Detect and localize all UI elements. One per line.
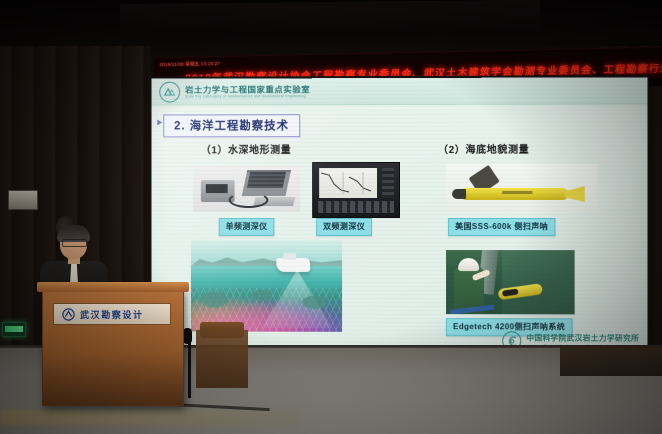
title-bullet-arrow-icon [157, 119, 162, 125]
caption-dual-frequency: 双频测深仪 [316, 218, 372, 236]
sonar-deployment-field-photo [446, 250, 575, 314]
podium-sign-text: 武汉勘察设计 [80, 308, 144, 321]
dual-frequency-recorder-photo [312, 162, 400, 218]
slide-title: 2. 海洋工程勘察技术 [163, 114, 300, 137]
microphone-head-icon [183, 328, 192, 344]
single-beam-echo-sounder-photo [193, 166, 300, 212]
screenshot-root: 2019/11/08 星期五 13:15:27 2019年武汉勘察设计协会工程勘… [0, 0, 662, 434]
podium-name-plate: 武汉勘察设计 [53, 303, 171, 325]
exit-sign [2, 322, 26, 337]
floor-light-strip [0, 410, 300, 426]
yellow-towfish-sonar-photo [446, 164, 597, 212]
slide-header-logo: 岩土力学与工程国家重点实验室 State Key Laboratory of G… [159, 81, 310, 102]
lab-name-en: State Key Laboratory of Geomechanics and… [185, 95, 310, 99]
lab-name-cn: 岩土力学与工程国家重点实验室 [185, 85, 310, 93]
ceiling-beam [120, 0, 540, 38]
geomechanics-lab-icon [159, 82, 180, 103]
wall-speaker-box [8, 190, 38, 210]
presentation-slide: 岩土力学与工程国家重点实验室 State Key Laboratory of G… [151, 77, 647, 355]
podium: 武汉勘察设计 [42, 288, 184, 406]
caption-sss-600k: 美国SSS-600k 侧扫声呐 [448, 218, 555, 236]
wuhan-survey-design-logo [62, 308, 75, 321]
section-heading-1: （1）水深地形测量 [201, 141, 291, 156]
institute-name-cn: 中国科学院武汉岩土力学研究所 [526, 335, 639, 343]
podium-top-surface [37, 282, 189, 292]
multibeam-seabed-terrain-render [191, 240, 342, 332]
side-table [560, 346, 662, 376]
microphone-stand [188, 340, 191, 398]
section-heading-2: （2）海底地貌测量 [438, 141, 529, 156]
chair [196, 330, 248, 388]
caption-single-frequency: 单频测深仪 [219, 218, 275, 236]
eyeglasses [62, 239, 87, 247]
